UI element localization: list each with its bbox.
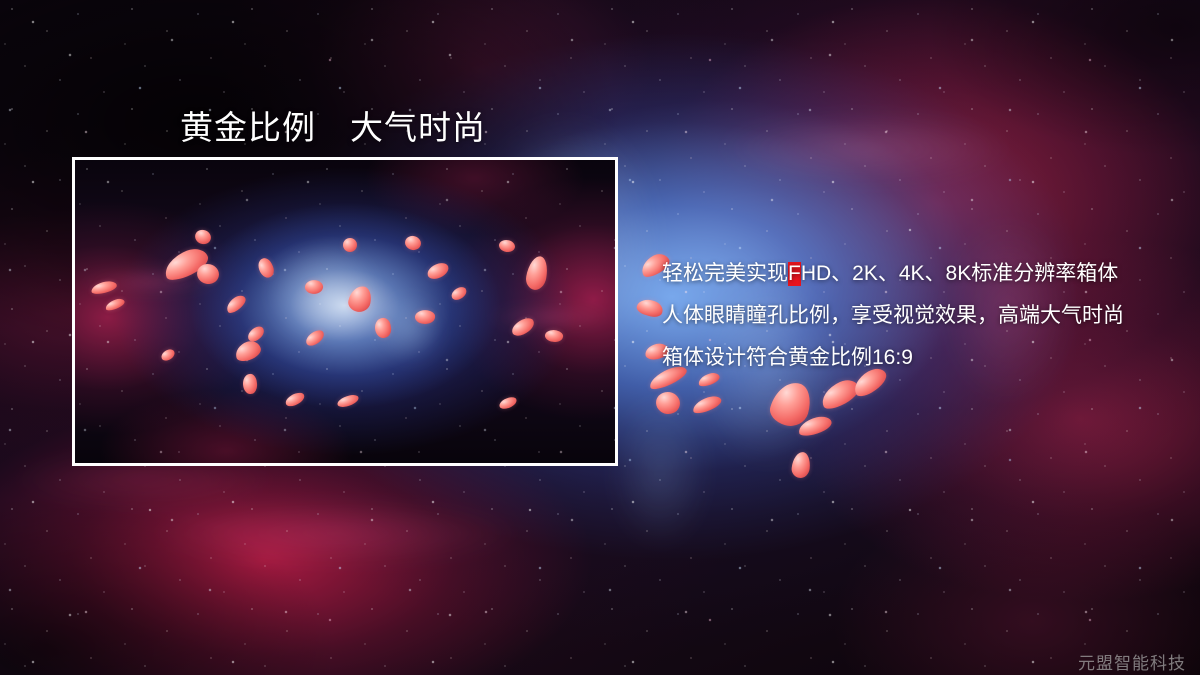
feature-line-2: 人体眼睛瞳孔比例，享受视觉效果，高端大气时尚 — [662, 295, 1124, 337]
feature-line-3: 箱体设计符合黄金比例16:9 — [662, 337, 1124, 379]
petal — [343, 238, 357, 252]
watermark: 元盟智能科技 — [1078, 649, 1186, 674]
slide-canvas: 黄金比例 大气时尚 轻松完美实现FHD、2K、4K、8K标准分辨率箱体 人体眼睛… — [0, 0, 1200, 675]
screen-content — [75, 160, 615, 463]
feature-line-1: 轻松完美实现FHD、2K、4K、8K标准分辨率箱体 — [662, 253, 1124, 295]
feature-line-1-pre: 轻松完美实现 — [662, 262, 788, 285]
page-title: 黄金比例 大气时尚 — [180, 101, 486, 149]
led-display-screen — [72, 157, 618, 466]
feature-description: 轻松完美实现FHD、2K、4K、8K标准分辨率箱体 人体眼睛瞳孔比例，享受视觉效… — [662, 253, 1124, 379]
screen-starfield-medium — [75, 160, 615, 463]
feature-line-1-highlight: F — [788, 262, 801, 286]
feature-line-1-post: HD、2K、4K、8K标准分辨率箱体 — [801, 262, 1118, 285]
